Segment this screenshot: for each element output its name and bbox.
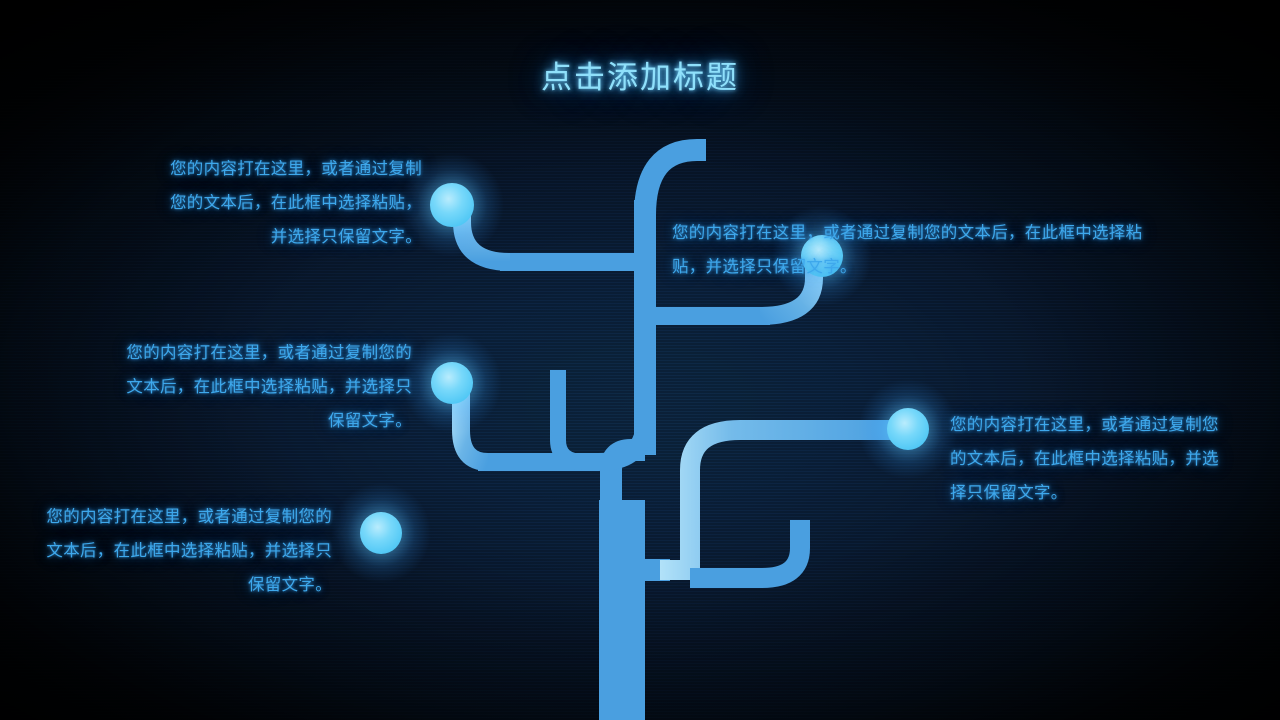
branch-inner-curl [558,370,584,462]
text-block-bottom-left[interactable]: 您的内容打在这里，或者通过复制您的文本后，在此框中选择粘贴，并选择只保留文字。 [38,500,332,602]
node-5[interactable] [331,483,431,583]
branch-node5-connector [586,518,600,545]
branch-to-node-4 [660,430,898,570]
text-block-top-right[interactable]: 您的内容打在这里，或者通过复制您的文本后，在此框中选择粘贴，并选择只保留文字。 [672,216,1152,284]
node-4[interactable] [858,379,958,479]
branch-stem-top-hook [645,150,706,215]
node-3[interactable] [402,333,502,433]
text-block-bottom-right[interactable]: 您的内容打在这里，或者通过复制您的文本后，在此框中选择粘贴，并选择只保留文字。 [950,408,1222,510]
slide-canvas: 点击添加标题 您的内容打在这里，或者通过复制您的文本后，在此框中选择粘贴，并选择… [0,0,1280,720]
branch-right-hook [690,520,800,578]
text-block-top-left[interactable]: 您的内容打在这里，或者通过复制您的文本后，在此框中选择粘贴，并选择只保留文字。 [160,152,422,254]
page-title[interactable]: 点击添加标题 [0,52,1280,97]
text-block-mid-left[interactable]: 您的内容打在这里，或者通过复制您的文本后，在此框中选择粘贴，并选择只保留文字。 [120,336,412,438]
